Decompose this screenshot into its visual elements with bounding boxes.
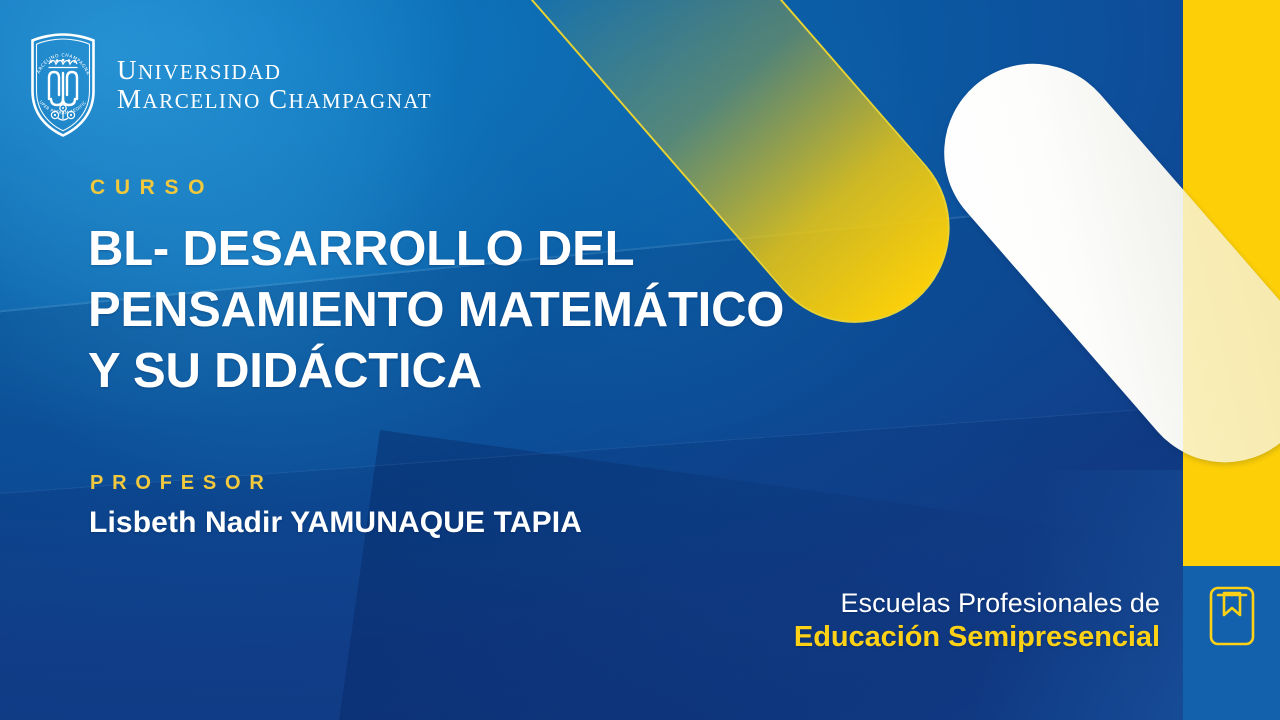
course-title-line-3: Y SU DIDÁCTICA: [88, 341, 968, 402]
background-dark-wedge: [316, 430, 1280, 720]
professor-name: Lisbeth Nadir YAMUNAQUE TAPIA: [89, 506, 582, 540]
university-name-line-2: MARCELINO CHAMPAGNAT: [117, 85, 432, 114]
university-wordmark: UNIVERSIDAD MARCELINO CHAMPAGNAT: [117, 56, 432, 113]
course-title-line-1: BL- DESARROLLO DEL: [88, 219, 968, 280]
book-bookmark-icon: [1208, 585, 1256, 647]
background-diagonal-band-lower: [0, 387, 1280, 720]
course-eyebrow-label: CURSO: [90, 176, 214, 200]
footer-program-lockup: Escuelas Profesionales de Educación Semi…: [794, 588, 1160, 654]
course-title-slide: MARCELINO CHAMPAGNAT SUPER PETRAM AEDIFI…: [0, 0, 1280, 720]
university-logo-lockup: MARCELINO CHAMPAGNAT SUPER PETRAM AEDIFI…: [27, 33, 432, 137]
university-name-line-1: UNIVERSIDAD: [117, 56, 432, 85]
footer-line-1: Escuelas Profesionales de: [794, 588, 1160, 619]
university-crest-shield-icon: MARCELINO CHAMPAGNAT SUPER PETRAM AEDIFI…: [27, 33, 99, 137]
white-capsule-tinted-overlap: [1183, 27, 1280, 498]
professor-label: PROFESOR: [90, 472, 273, 495]
course-title: BL- DESARROLLO DEL PENSAMIENTO MATEMÁTIC…: [88, 219, 968, 401]
white-capsule-over-yellow-clip: [1183, 0, 1280, 566]
footer-line-2: Educación Semipresencial: [794, 621, 1160, 654]
course-title-line-2: PENSAMIENTO MATEMÁTICO: [88, 280, 968, 341]
